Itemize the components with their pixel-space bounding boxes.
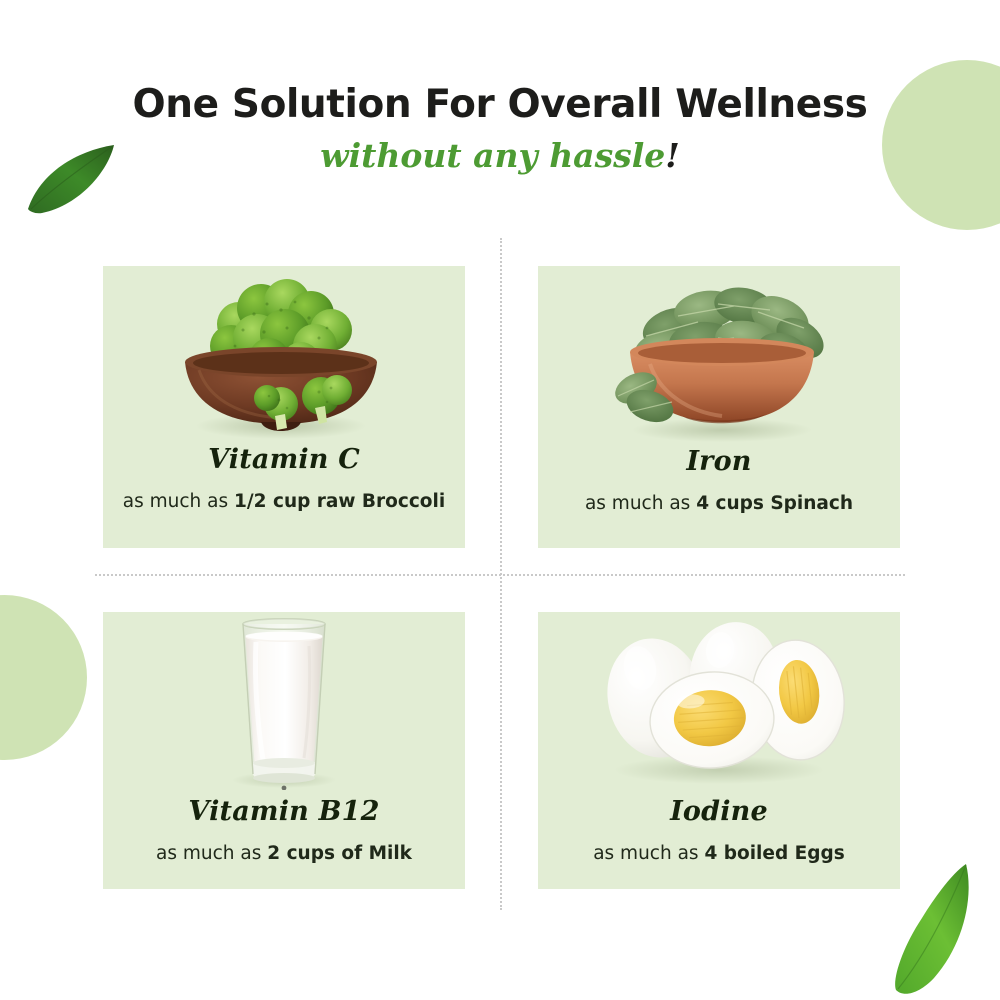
boiled-eggs-image bbox=[538, 612, 900, 790]
nutrient-equivalent: as much as 4 cups Spinach bbox=[585, 493, 853, 514]
promotional-graphic: One Solution For Overall Wellness withou… bbox=[0, 0, 1000, 1000]
nutrient-equivalent-qty: 4 cups Spinach bbox=[696, 493, 853, 514]
nutrient-equivalent-qty: 4 boiled Eggs bbox=[704, 843, 844, 864]
nutrient-card-grid: Vitamin C as much as 1/2 cup raw Broccol… bbox=[0, 0, 1000, 1000]
nutrient-equivalent: as much as 4 boiled Eggs bbox=[593, 843, 845, 864]
nutrient-equivalent-prefix: as much as bbox=[156, 843, 267, 864]
nutrient-equivalent: as much as 1/2 cup raw Broccoli bbox=[123, 491, 445, 512]
milk-glass-image bbox=[103, 612, 465, 790]
broccoli-bowl-image bbox=[103, 266, 465, 444]
nutrient-card-iodine: Iodine as much as 4 boiled Eggs bbox=[538, 612, 900, 889]
nutrient-card-vitamin-c: Vitamin C as much as 1/2 cup raw Broccol… bbox=[103, 266, 465, 548]
nutrient-equivalent: as much as 2 cups of Milk bbox=[156, 843, 412, 864]
nutrient-equivalent-qty: 2 cups of Milk bbox=[267, 843, 412, 864]
nutrient-title: Iodine bbox=[670, 798, 768, 825]
nutrient-card-vitamin-b12: Vitamin B12 as much as 2 cups of Milk bbox=[103, 612, 465, 889]
nutrient-card-iron: Iron as much as 4 cups Spinach bbox=[538, 266, 900, 548]
nutrient-equivalent-prefix: as much as bbox=[585, 493, 696, 514]
nutrient-title: Vitamin C bbox=[208, 446, 360, 473]
nutrient-title: Iron bbox=[686, 448, 751, 475]
nutrient-equivalent-prefix: as much as bbox=[123, 491, 234, 512]
nutrient-equivalent-prefix: as much as bbox=[593, 843, 704, 864]
nutrient-title: Vitamin B12 bbox=[188, 798, 379, 825]
nutrient-equivalent-qty: 1/2 cup raw Broccoli bbox=[234, 491, 445, 512]
spinach-bowl-image bbox=[538, 266, 900, 446]
